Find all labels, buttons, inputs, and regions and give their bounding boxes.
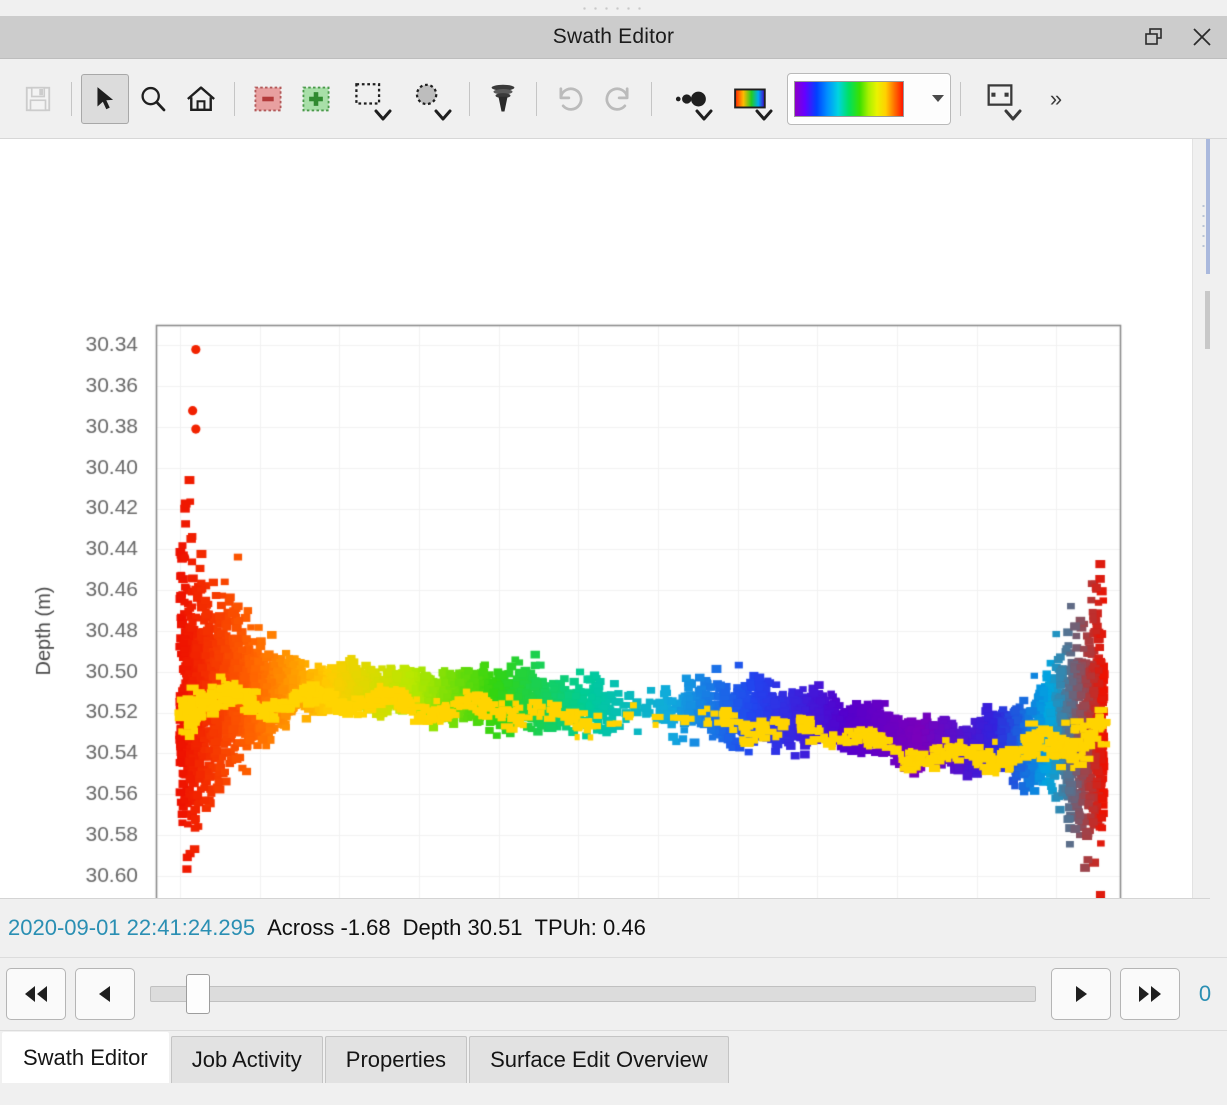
magnifier-icon <box>138 84 168 114</box>
toolbar-overflow-button[interactable]: » <box>1036 86 1076 112</box>
panel-splitter-grip[interactable] <box>1205 291 1210 349</box>
vertical-drag-handle-dots-icon[interactable] <box>1201 201 1206 249</box>
select-pointer-button[interactable] <box>81 74 129 124</box>
reject-soundings-button[interactable] <box>244 74 292 124</box>
status-across: Across -1.68 <box>267 915 391 941</box>
swath-plot-panel[interactable] <box>0 139 1210 899</box>
status-tpuh-value: 0.46 <box>603 915 646 940</box>
tab-job-activity[interactable]: Job Activity <box>171 1036 323 1083</box>
toolbar-separator <box>234 82 235 116</box>
timeline-slider-thumb[interactable] <box>186 974 210 1014</box>
save-button[interactable] <box>14 74 62 124</box>
chevron-down-icon <box>1004 108 1022 122</box>
toolbar-separator <box>469 82 470 116</box>
timeline-slider-groove[interactable] <box>150 986 1036 1002</box>
restore-window-button[interactable] <box>1137 20 1171 54</box>
lasso-select-button[interactable] <box>400 74 460 124</box>
status-across-label: Across <box>267 915 334 940</box>
timeline-slider[interactable] <box>150 969 1036 1019</box>
status-depth: Depth 30.51 <box>403 915 523 941</box>
zoom-button[interactable] <box>129 74 177 124</box>
colormap-swatch <box>794 81 904 117</box>
chevron-down-icon <box>374 108 392 122</box>
swath-scatter-chart[interactable] <box>0 139 1210 898</box>
play-icon <box>1071 983 1091 1005</box>
fast-forward-icon <box>1136 983 1164 1005</box>
accept-soundings-button[interactable] <box>292 74 340 124</box>
chevron-down-icon <box>434 108 452 122</box>
layout-button[interactable] <box>970 74 1030 124</box>
toolbar-separator <box>960 82 961 116</box>
redo-button[interactable] <box>594 74 642 124</box>
chevron-down-icon <box>755 108 773 122</box>
home-view-button[interactable] <box>177 74 225 124</box>
rewind-icon <box>22 983 50 1005</box>
status-timestamp: 2020-09-01 22:41:24.295 <box>8 915 255 941</box>
status-across-value: -1.68 <box>340 915 390 940</box>
undo-button[interactable] <box>546 74 594 124</box>
chevron-down-icon <box>695 108 713 122</box>
chevron-down-icon <box>932 95 944 102</box>
skip-forward-button[interactable] <box>1120 968 1180 1020</box>
reject-red-square-icon <box>252 83 284 115</box>
main-toolbar: » <box>0 59 1227 139</box>
readout-statusbar: 2020-09-01 22:41:24.295 Across -1.68 Dep… <box>0 899 1227 958</box>
toolbar-separator <box>651 82 652 116</box>
arrow-pointer-icon <box>92 85 118 113</box>
rectangle-select-button[interactable] <box>340 74 400 124</box>
previous-icon <box>95 983 115 1005</box>
tab-swath-editor[interactable]: Swath Editor <box>2 1032 169 1083</box>
tab-properties[interactable]: Properties <box>325 1036 467 1083</box>
step-back-button[interactable] <box>75 968 135 1020</box>
panel-splitter-highlight[interactable] <box>1206 139 1210 274</box>
playback-transport-bar: 0 <box>0 958 1227 1031</box>
window-titlebar: Swath Editor <box>0 16 1227 59</box>
floppy-disk-icon <box>23 84 53 114</box>
point-size-button[interactable] <box>661 74 721 124</box>
tab-surface-edit-overview[interactable]: Surface Edit Overview <box>469 1036 729 1083</box>
panel-drag-strip[interactable] <box>0 0 1227 16</box>
filter-button[interactable] <box>479 74 527 124</box>
accept-green-square-icon <box>300 83 332 115</box>
redo-arrow-icon <box>602 83 634 115</box>
window-buttons <box>1137 16 1219 58</box>
skip-back-button[interactable] <box>6 968 66 1020</box>
drag-handle-dots-icon <box>579 6 649 11</box>
colormap-selector[interactable] <box>787 73 951 125</box>
close-icon <box>1190 25 1214 49</box>
toolbar-separator <box>71 82 72 116</box>
toolbar-separator <box>536 82 537 116</box>
page-title: Swath Editor <box>553 25 674 49</box>
funnel-filter-icon <box>486 82 520 116</box>
status-tpuh: TPUh: 0.46 <box>535 915 646 941</box>
step-forward-button[interactable] <box>1051 968 1111 1020</box>
status-depth-label: Depth <box>403 915 462 940</box>
bottom-tabbar: Swath Editor Job Activity Properties Sur… <box>0 1031 1227 1083</box>
home-icon <box>185 84 217 114</box>
status-depth-value: 30.51 <box>467 915 522 940</box>
timeline-counter: 0 <box>1189 981 1221 1007</box>
close-window-button[interactable] <box>1185 20 1219 54</box>
undo-arrow-icon <box>554 83 586 115</box>
restore-window-icon <box>1143 26 1165 48</box>
status-tpuh-label: TPUh: <box>535 915 597 940</box>
color-mode-button[interactable] <box>721 74 781 124</box>
